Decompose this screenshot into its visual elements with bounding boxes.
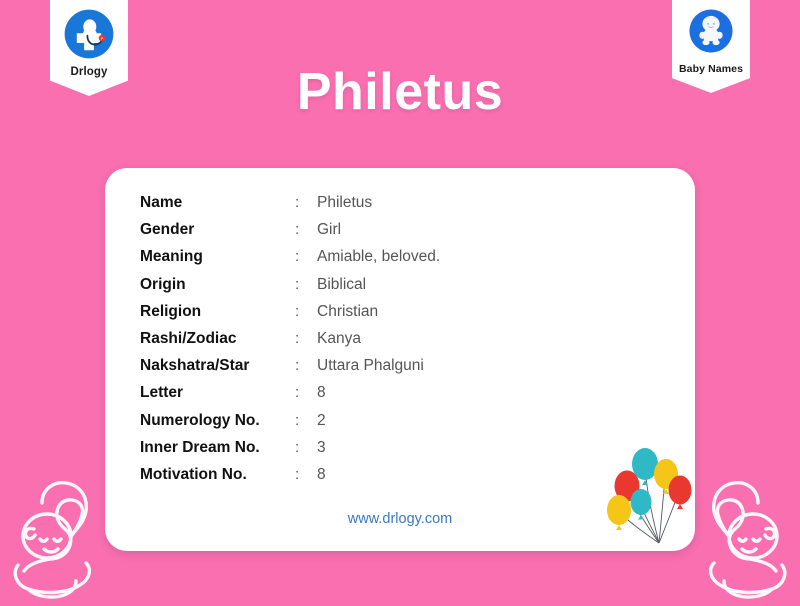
table-row: Name : Philetus: [140, 194, 440, 221]
row-label: Origin: [140, 276, 295, 294]
row-value: Christian: [317, 303, 378, 321]
table-row: Rashi/Zodiac : Kanya: [140, 330, 440, 357]
svg-text:P: P: [101, 36, 104, 41]
row-label: Motivation No.: [140, 466, 295, 484]
table-row: Gender : Girl: [140, 221, 440, 248]
row-separator: :: [295, 330, 317, 348]
row-label: Religion: [140, 303, 295, 321]
table-row: Meaning : Amiable, beloved.: [140, 248, 440, 275]
row-separator: :: [295, 194, 317, 212]
table-row: Nakshatra/Star : Uttara Phalguni: [140, 357, 440, 384]
row-label: Meaning: [140, 248, 295, 266]
table-row: Motivation No. : 8: [140, 466, 440, 493]
row-separator: :: [295, 384, 317, 402]
row-value: Biblical: [317, 276, 366, 294]
row-label: Inner Dream No.: [140, 439, 295, 457]
row-separator: :: [295, 276, 317, 294]
balloons-icon: [607, 442, 693, 551]
mother-and-baby-icon: [2, 473, 110, 606]
row-separator: :: [295, 466, 317, 484]
row-value: Girl: [317, 221, 341, 239]
row-value: Kanya: [317, 330, 361, 348]
row-label: Letter: [140, 384, 295, 402]
row-separator: :: [295, 303, 317, 321]
website-link[interactable]: www.drlogy.com: [105, 511, 695, 527]
row-value: Philetus: [317, 194, 372, 212]
row-separator: :: [295, 357, 317, 375]
table-row: Inner Dream No. : 3: [140, 439, 440, 466]
row-separator: :: [295, 412, 317, 430]
row-value: Uttara Phalguni: [317, 357, 424, 375]
page-title: Philetus: [0, 66, 800, 118]
row-value: 2: [317, 412, 326, 430]
drlogy-doctor-logo-icon: P: [63, 8, 115, 60]
row-label: Numerology No.: [140, 412, 295, 430]
details-table: Name : Philetus Gender : Girl Meaning : …: [140, 194, 440, 493]
row-label: Gender: [140, 221, 295, 239]
table-row: Religion : Christian: [140, 303, 440, 330]
row-value: 8: [317, 384, 326, 402]
baby-logo-icon: [688, 8, 734, 54]
row-value: Amiable, beloved.: [317, 248, 440, 266]
table-row: Origin : Biblical: [140, 276, 440, 303]
row-separator: :: [295, 439, 317, 457]
row-label: Name: [140, 194, 295, 212]
mother-and-baby-icon: [690, 473, 798, 606]
table-row: Numerology No. : 2: [140, 412, 440, 439]
row-separator: :: [295, 248, 317, 266]
row-separator: :: [295, 221, 317, 239]
row-value: 8: [317, 466, 326, 484]
row-value: 3: [317, 439, 326, 457]
row-label: Nakshatra/Star: [140, 357, 295, 375]
row-label: Rashi/Zodiac: [140, 330, 295, 348]
table-row: Letter : 8: [140, 384, 440, 411]
name-details-card: Name : Philetus Gender : Girl Meaning : …: [105, 168, 695, 551]
